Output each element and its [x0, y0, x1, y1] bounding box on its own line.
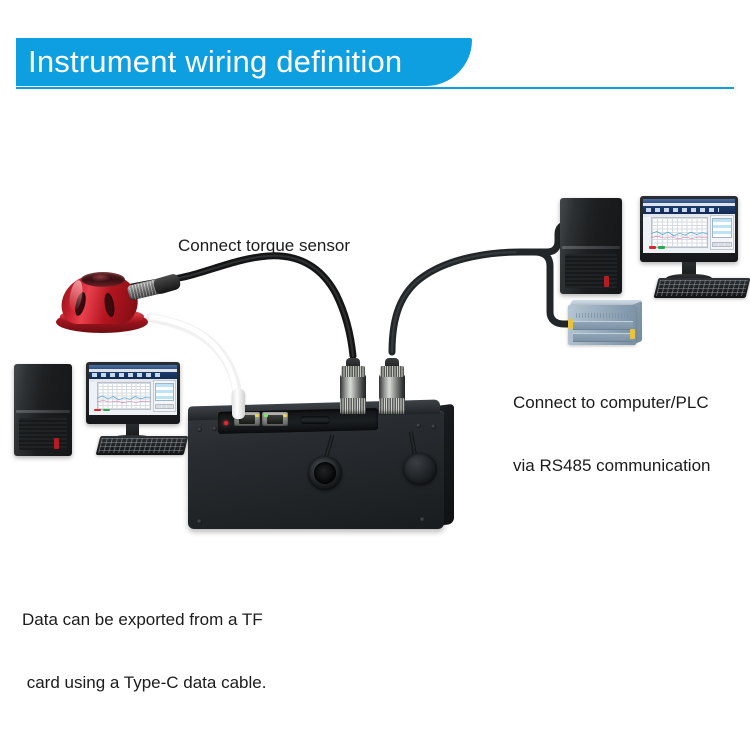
- plc-module: [566, 299, 644, 347]
- tower-power-led: [54, 438, 59, 449]
- keyboard-keys: [98, 438, 186, 453]
- case-screw: [212, 426, 217, 431]
- computer-right: [556, 192, 750, 302]
- plc-terminal-row: [573, 321, 633, 330]
- tower-trim: [562, 246, 619, 249]
- aviation-connector-sensor[interactable]: [340, 358, 366, 416]
- connector-knurl-lower: [379, 398, 405, 414]
- keyboard-keys: [656, 280, 748, 296]
- plc-terminal-row: [573, 333, 633, 342]
- torque-sensor: [56, 270, 176, 342]
- ethernet-activity-led: [283, 414, 287, 417]
- ethernet-jack: [267, 415, 283, 424]
- round-port-open[interactable]: [308, 456, 342, 490]
- ethernet-activity-led: [255, 414, 259, 417]
- tower-trim: [16, 410, 69, 413]
- annotation-tf-line1: Data can be exported from a TF: [22, 609, 266, 630]
- diagram-canvas: Instrument wiring definition: [0, 0, 750, 684]
- case-screw: [420, 517, 425, 522]
- annotation-torque-sensor: Connect torque sensor: [178, 235, 350, 256]
- round-port-cap[interactable]: [403, 453, 437, 485]
- software-value-panel: [153, 380, 176, 412]
- software-stop-button[interactable]: [649, 246, 656, 249]
- pc-tower: [560, 198, 622, 294]
- software-stop-button[interactable]: [94, 409, 101, 412]
- software-start-button[interactable]: [103, 409, 110, 412]
- software-window: [89, 365, 177, 415]
- computer-left: [12, 356, 192, 466]
- pc-tower: [14, 364, 72, 456]
- software-window: [643, 199, 735, 253]
- case-screw: [197, 427, 202, 432]
- software-toolbar-icons: [92, 373, 162, 377]
- tower-vent-mesh: [565, 254, 617, 288]
- software-value-cells: [712, 218, 732, 238]
- monitor-screen[interactable]: [89, 365, 177, 415]
- connector-knurl-upper: [380, 366, 404, 377]
- keyboard[interactable]: [654, 278, 750, 298]
- annotation-plc-line1: Connect to computer/PLC: [513, 392, 710, 413]
- software-start-button[interactable]: [658, 246, 665, 249]
- monitor-screen[interactable]: [643, 199, 735, 253]
- instrument-box: [188, 401, 454, 529]
- plc-vents: [576, 313, 630, 318]
- keyboard[interactable]: [96, 436, 189, 455]
- usb-c-plug[interactable]: [232, 389, 245, 419]
- usb-c-port[interactable]: [300, 416, 330, 424]
- software-toolbar-icons: [646, 208, 720, 212]
- monitor: [86, 362, 180, 424]
- software-button-row: [712, 242, 732, 247]
- ethernet-link-led: [264, 414, 268, 417]
- tower-power-led: [604, 276, 609, 287]
- tower-vent-mesh: [19, 418, 68, 450]
- ethernet-port[interactable]: [262, 412, 288, 426]
- round-port-socket: [314, 462, 336, 484]
- software-button-row: [155, 404, 174, 409]
- case-screw: [431, 424, 436, 429]
- annotation-plc: Connect to computer/PLC via RS485 commun…: [513, 349, 710, 519]
- annotation-tf-line2: card using a Type-C data cable.: [22, 672, 266, 693]
- software-value-cells: [155, 383, 174, 402]
- connector-knurl-upper: [341, 366, 365, 377]
- sensor-top-hub: [92, 274, 112, 282]
- aviation-connector-rs485[interactable]: [379, 358, 405, 416]
- case-screw: [197, 519, 202, 524]
- software-value-panel: [710, 215, 734, 250]
- annotation-tf-card: Data can be exported from a TF card usin…: [22, 566, 266, 736]
- plc-terminal-clip: [568, 319, 573, 329]
- monitor: [640, 196, 738, 262]
- software-chart-traces: [651, 217, 708, 247]
- connector-knurl-lower: [340, 398, 366, 414]
- plc-terminal-clip: [630, 329, 635, 339]
- annotation-plc-line2: via RS485 communication: [513, 455, 710, 476]
- plc-body: [568, 305, 636, 345]
- software-chart-traces: [97, 382, 152, 410]
- case-screw: [416, 423, 421, 428]
- status-led: [224, 421, 228, 425]
